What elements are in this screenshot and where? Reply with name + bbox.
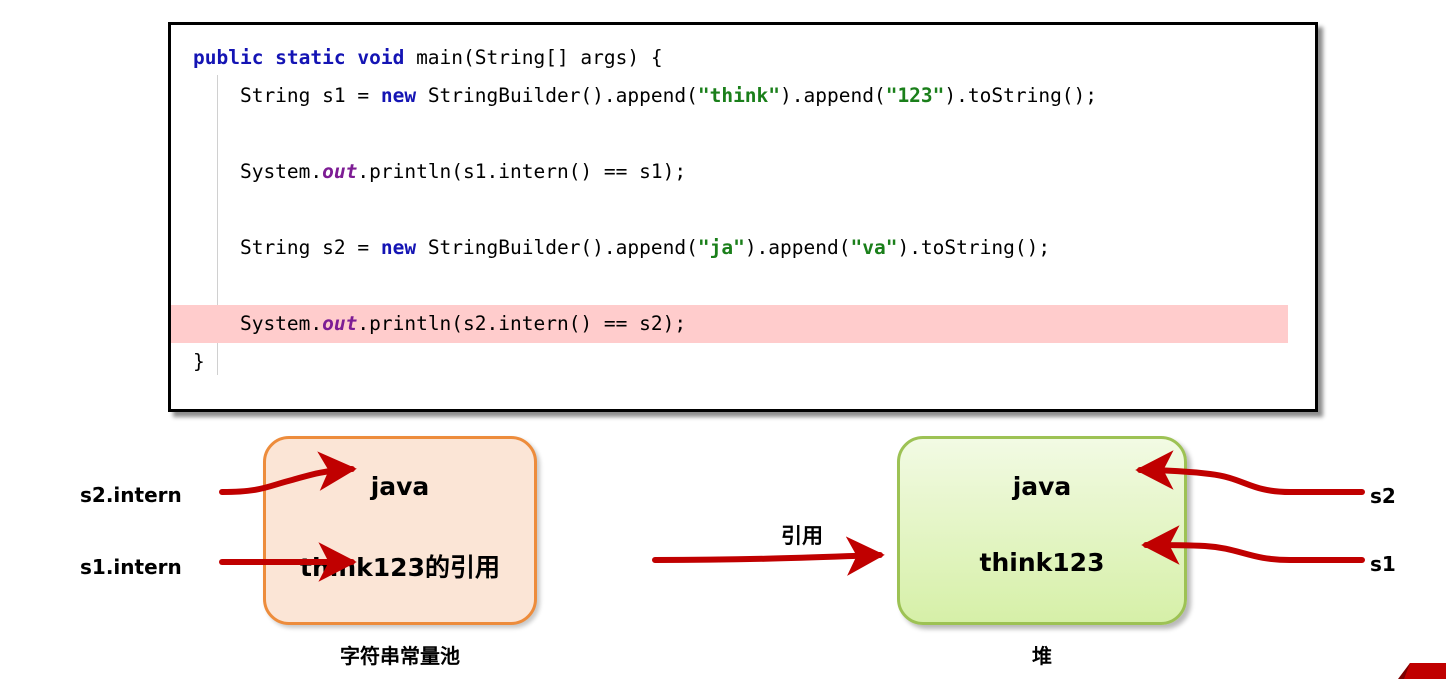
corner-ribbon-decoration bbox=[1370, 630, 1446, 679]
code-token: ).toString(); bbox=[897, 236, 1050, 259]
code-token: ).toString(); bbox=[944, 84, 1097, 107]
code-token: main(String[] args) { bbox=[416, 46, 663, 69]
code-token: } bbox=[193, 350, 205, 373]
code-token: out bbox=[322, 160, 357, 183]
code-token: out bbox=[322, 312, 357, 335]
code-line bbox=[171, 191, 1315, 229]
code-token: new bbox=[381, 84, 428, 107]
code-line: String s2 = new StringBuilder().append("… bbox=[171, 229, 1315, 267]
code-token: System. bbox=[193, 312, 322, 335]
arrow-layer bbox=[0, 412, 1446, 679]
code-token: String s1 = bbox=[193, 84, 381, 107]
code-token: "va" bbox=[850, 236, 897, 259]
arrow-pool-ref-to-heap-think123 bbox=[655, 555, 880, 560]
arrow-s2intern-to-pool-java bbox=[222, 469, 352, 492]
code-lines: public static void main(String[] args) {… bbox=[171, 25, 1315, 381]
code-token: StringBuilder().append( bbox=[428, 84, 698, 107]
code-line: } bbox=[171, 343, 1315, 381]
code-token: "123" bbox=[886, 84, 945, 107]
code-token: System. bbox=[193, 160, 322, 183]
code-token: .println(s1.intern() == s1); bbox=[357, 160, 686, 183]
code-line bbox=[171, 115, 1315, 153]
code-token: ).append( bbox=[780, 84, 886, 107]
arrow-s1-to-heap-think123 bbox=[1146, 545, 1362, 560]
code-block-panel: public static void main(String[] args) {… bbox=[168, 22, 1318, 412]
arrow-s2-to-heap-java bbox=[1140, 470, 1362, 492]
code-token: public static void bbox=[193, 46, 416, 69]
code-token: String s2 = bbox=[193, 236, 381, 259]
code-line: System.out.println(s2.intern() == s2); bbox=[171, 305, 1288, 343]
code-token: new bbox=[381, 236, 428, 259]
code-token: "ja" bbox=[698, 236, 745, 259]
code-token: ).append( bbox=[745, 236, 851, 259]
code-line: public static void main(String[] args) { bbox=[171, 39, 1315, 77]
code-line bbox=[171, 267, 1315, 305]
code-line: System.out.println(s1.intern() == s1); bbox=[171, 153, 1315, 191]
code-line: String s1 = new StringBuilder().append("… bbox=[171, 77, 1315, 115]
code-token: StringBuilder().append( bbox=[428, 236, 698, 259]
code-token: .println(s2.intern() == s2); bbox=[357, 312, 686, 335]
code-token: "think" bbox=[698, 84, 780, 107]
memory-diagram: java think123的引用 java think123 s2.intern… bbox=[0, 412, 1446, 679]
